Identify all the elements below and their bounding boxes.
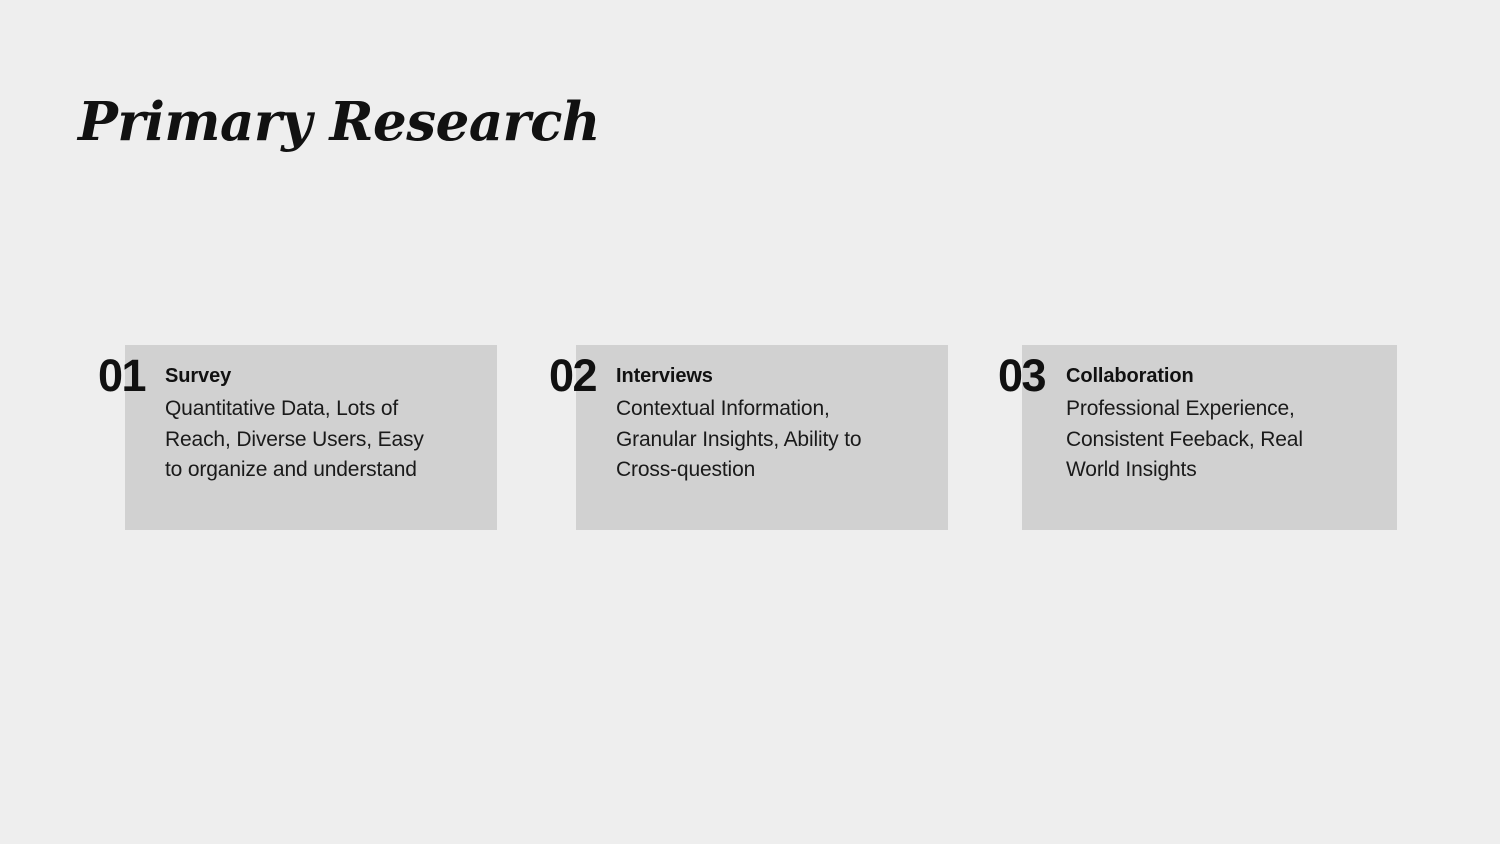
page-title: Primary Research [78, 94, 600, 151]
card-item[interactable]: 01 Survey Quantitative Data, Lots of Rea… [125, 345, 497, 530]
card-item[interactable]: 02 Interviews Contextual Information, Gr… [576, 345, 948, 530]
card-heading: Collaboration [1066, 364, 1391, 389]
card-description: Quantitative Data, Lots of Reach, Divers… [165, 394, 491, 486]
card-body: Collaboration Professional Experience, C… [1066, 364, 1391, 486]
cards-row: 01 Survey Quantitative Data, Lots of Rea… [0, 345, 1500, 535]
card-item[interactable]: 03 Collaboration Professional Experience… [1022, 345, 1397, 530]
card-heading: Survey [165, 364, 491, 389]
card-number: 02 [549, 353, 596, 398]
card-description: Professional Experience, Consistent Feeb… [1066, 394, 1391, 486]
card-body: Survey Quantitative Data, Lots of Reach,… [165, 364, 491, 486]
card-number: 01 [98, 353, 145, 398]
slide-canvas: Primary Research 01 Survey Quantitative … [0, 0, 1500, 844]
card-body: Interviews Contextual Information, Granu… [616, 364, 942, 486]
card-description: Contextual Information, Granular Insight… [616, 394, 942, 486]
card-number: 03 [998, 353, 1045, 398]
card-heading: Interviews [616, 364, 942, 389]
